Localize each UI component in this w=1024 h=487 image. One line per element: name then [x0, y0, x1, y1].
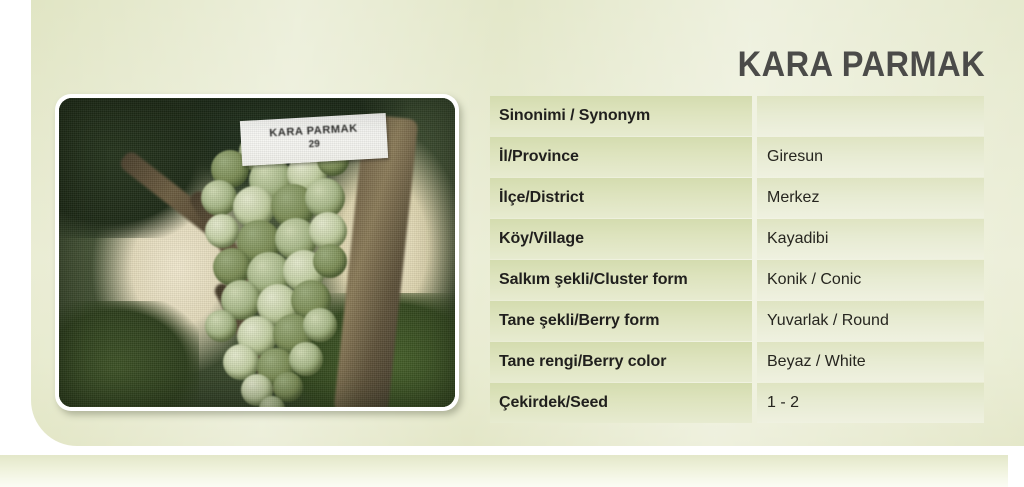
- photo-grape-cluster: [197, 128, 347, 403]
- table-row-label: Tane şekli/Berry form: [490, 301, 752, 341]
- table-row-label: Salkım şekli/Cluster form: [490, 260, 752, 300]
- photo-berry: [303, 308, 337, 342]
- photo-berry: [201, 180, 237, 216]
- table-row: Sinonimi / Synonym: [490, 96, 984, 136]
- table-row-value: Merkez: [757, 178, 984, 218]
- table-row: Tane rengi/Berry colorBeyaz / White: [490, 342, 984, 382]
- table-row-value: Giresun: [757, 137, 984, 177]
- table-row-label: Köy/Village: [490, 219, 752, 259]
- photo-berry: [205, 310, 237, 342]
- table-row-label: İl/Province: [490, 137, 752, 177]
- photo-berry: [313, 244, 347, 278]
- photo-berry: [205, 214, 239, 248]
- table-row: İl/ProvinceGiresun: [490, 137, 984, 177]
- table-row: Çekirdek/Seed1 - 2: [490, 383, 984, 423]
- bottom-decorative-strip: [0, 455, 1008, 487]
- table-row: İlçe/DistrictMerkez: [490, 178, 984, 218]
- table-row-value: [757, 96, 984, 136]
- table-row-value: Konik / Conic: [757, 260, 984, 300]
- photo-variety-label-tag: KARA PARMAK 29: [240, 113, 388, 166]
- photo-berry: [289, 342, 323, 376]
- table-row-label: Sinonimi / Synonym: [490, 96, 752, 136]
- table-row-label: İlçe/District: [490, 178, 752, 218]
- table-row-value: Kayadibi: [757, 219, 984, 259]
- table-row: Tane şekli/Berry formYuvarlak / Round: [490, 301, 984, 341]
- table-row: Salkım şekli/Cluster formKonik / Conic: [490, 260, 984, 300]
- table-row: Köy/VillageKayadibi: [490, 219, 984, 259]
- page-title: KARA PARMAK: [738, 45, 985, 85]
- page-root: KARA PARMAK 29 KARA PARMAK Sinonimi / Sy…: [0, 0, 1024, 487]
- table-row-label: Tane rengi/Berry color: [490, 342, 752, 382]
- variety-info-table: Sinonimi / Synonymİl/ProvinceGiresunİlçe…: [490, 96, 984, 424]
- photo-foliage-bottom-left: [59, 301, 199, 407]
- grape-photo-frame: KARA PARMAK 29: [55, 94, 459, 411]
- table-row-value: Yuvarlak / Round: [757, 301, 984, 341]
- grape-photo: KARA PARMAK 29: [59, 98, 455, 407]
- table-row-label: Çekirdek/Seed: [490, 383, 752, 423]
- table-row-value: 1 - 2: [757, 383, 984, 423]
- table-row-value: Beyaz / White: [757, 342, 984, 382]
